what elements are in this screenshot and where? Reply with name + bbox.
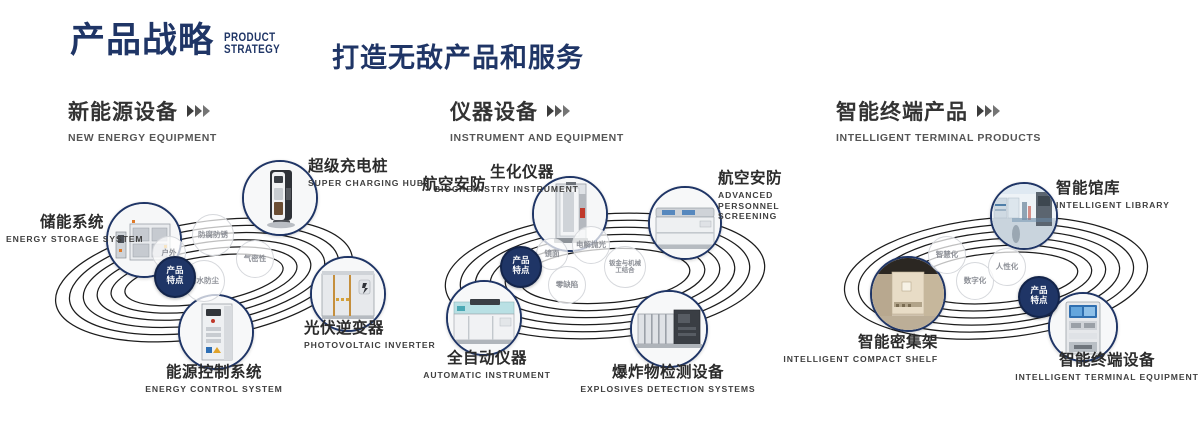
label-aviation-security: 航空安防	[396, 176, 486, 194]
label-cn: 智能密集架	[778, 334, 938, 352]
core-badge-product-features: 产品 特点	[1018, 276, 1060, 318]
label-cn: 能源控制系统	[122, 364, 306, 382]
label-energy-control-system: 能源控制系统 ENERGY CONTROL SYSTEM	[122, 364, 306, 395]
label-cn: 储能系统	[6, 214, 104, 232]
section-title-cn-text: 智能终端产品	[836, 96, 968, 126]
feature-bubble: 电解抛光	[572, 226, 610, 264]
label-energy-storage-system: 储能系统 ENERGY STORAGE SYSTEM	[6, 214, 104, 245]
label-cn: 航空安防	[396, 176, 486, 194]
label-advanced-personnel-screening: 航空安防 ADVANCED PERSONNEL SCREENING	[718, 170, 796, 222]
cluster-new-energy-equipment: 储能系统 ENERGY STORAGE SYSTEM 超级充电	[8, 152, 408, 402]
section-title-intelligent-terminal: 智能终端产品 INTELLIGENT TERMINAL PRODUCTS	[836, 96, 1041, 144]
screening-machine-icon	[650, 188, 720, 258]
core-badge-line2: 特点	[166, 277, 183, 287]
section-title-cn: 智能终端产品	[836, 96, 1041, 126]
section-title-cn-text: 仪器设备	[450, 96, 538, 126]
section-title-new-energy: 新能源设备 NEW ENERGY EQUIPMENT	[68, 96, 217, 144]
label-cn: 航空安防	[718, 170, 796, 188]
page-title-cn: 产品战略	[70, 24, 214, 59]
energy-control-cabinet-icon	[180, 296, 252, 368]
node-explosives-detection-systems[interactable]	[630, 290, 708, 368]
label-en: EXPLOSIVES DETECTION SYSTEMS	[576, 384, 760, 395]
feature-bubble: 零缺陷	[548, 266, 586, 304]
node-energy-control-system[interactable]	[178, 294, 254, 370]
label-cn: 智能终端设备	[1012, 352, 1200, 370]
section-title-en: INSTRUMENT AND EQUIPMENT	[450, 132, 624, 144]
charging-pile-icon	[244, 162, 316, 234]
label-intelligent-library: 智能馆库 INTELLIGENT LIBRARY	[1056, 180, 1170, 211]
core-badge-line2: 特点	[512, 267, 529, 277]
section-title-instrument: 仪器设备 INSTRUMENT AND EQUIPMENT	[450, 96, 624, 144]
label-intelligent-compact-shelf: 智能密集架 INTELLIGENT COMPACT SHELF	[778, 334, 938, 365]
explosives-detector-icon	[632, 292, 706, 366]
page-title-en-line2: STRATEGY	[224, 43, 280, 55]
section-title-cn: 仪器设备	[450, 96, 624, 126]
cluster-intelligent-terminal-products: 智能馆库 INTELLIGENT LIBRARY	[800, 152, 1200, 402]
label-explosives-detection-systems: 爆炸物检测设备 EXPLOSIVES DETECTION SYSTEMS	[576, 364, 760, 395]
core-badge-product-features: 产品 特点	[154, 256, 196, 298]
label-cn: 爆炸物检测设备	[576, 364, 760, 382]
label-en: INTELLIGENT TERMINAL EQUIPMENT	[1012, 372, 1200, 383]
label-en: AUTOMATIC INSTRUMENT	[392, 370, 582, 381]
section-title-en: NEW ENERGY EQUIPMENT	[68, 132, 217, 144]
label-automatic-instrument: 全自动仪器 AUTOMATIC INSTRUMENT	[392, 350, 582, 381]
node-automatic-instrument[interactable]	[446, 280, 522, 356]
page-header: 产品战略 PRODUCT STRATEGY	[70, 24, 292, 59]
chevron-right-icon	[187, 105, 210, 117]
section-title-cn-text: 新能源设备	[68, 96, 178, 126]
page-title-en: PRODUCT STRATEGY	[224, 31, 280, 55]
label-en-text: ADVANCED PERSONNEL SCREENING	[718, 190, 779, 221]
node-intelligent-library[interactable]	[990, 182, 1058, 250]
cluster-instrument-and-equipment: 生化仪器 BIOCHEMISTRY INSTRUMENT 航空安防	[400, 152, 800, 402]
node-advanced-personnel-screening[interactable]	[648, 186, 722, 260]
label-en: INTELLIGENT COMPACT SHELF	[778, 354, 938, 365]
chevron-right-icon	[977, 105, 1000, 117]
label-intelligent-terminal-equipment: 智能终端设备 INTELLIGENT TERMINAL EQUIPMENT	[1012, 352, 1200, 383]
chevron-right-icon	[547, 105, 570, 117]
label-en: ADVANCED PERSONNEL SCREENING	[718, 190, 796, 222]
section-title-cn: 新能源设备	[68, 96, 217, 126]
section-title-en: INTELLIGENT TERMINAL PRODUCTS	[836, 132, 1041, 144]
node-super-charging-hub[interactable]	[242, 160, 318, 236]
core-badge-product-features: 产品 特点	[500, 246, 542, 288]
feature-bubble: 钣金与机械工结合	[604, 246, 646, 288]
product-strategy-infographic: 产品战略 PRODUCT STRATEGY 打造无敌产品和服务 新能源设备 NE…	[0, 0, 1200, 422]
label-cn: 智能馆库	[1056, 180, 1170, 198]
label-en: ENERGY CONTROL SYSTEM	[122, 384, 306, 395]
label-en: ENERGY STORAGE SYSTEM	[6, 234, 104, 245]
feature-bubble: 人性化	[988, 248, 1026, 286]
label-cn: 全自动仪器	[392, 350, 582, 368]
page-slogan: 打造无敌产品和服务	[332, 36, 584, 75]
feature-bubble: 防腐防锈	[192, 214, 234, 256]
feature-bubble: 气密性	[236, 240, 274, 278]
library-room-icon	[992, 184, 1056, 248]
automatic-analyzer-icon	[448, 282, 520, 354]
label-en: INTELLIGENT LIBRARY	[1056, 200, 1170, 211]
core-badge-line2: 特点	[1030, 297, 1047, 307]
